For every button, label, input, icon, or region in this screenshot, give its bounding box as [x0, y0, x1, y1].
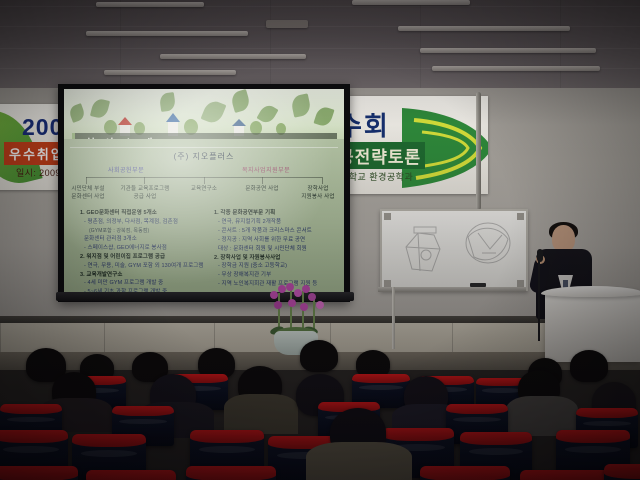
- org-chart-header-left: 사회공헌부문: [108, 165, 144, 174]
- slide-bullet: - 연극, 뮤지컬기획 2개작품: [214, 218, 338, 227]
- ceiling-light-fixture: [352, 0, 470, 5]
- slide-header-illustration: [64, 89, 344, 139]
- ceiling-light-fixture: [96, 2, 204, 7]
- presenter-head: [552, 225, 575, 252]
- slide-bullet: 2. 워지점 및 어린이집 프로그램 공급: [80, 253, 206, 262]
- slide-divider: [70, 147, 338, 148]
- slide-right-column: 1. 각종 문화공연부문 기획- 연극, 뮤지컬기획 2개작품- 콘서트 : 5…: [214, 209, 338, 289]
- ceiling-vent: [266, 20, 308, 28]
- seat: [0, 466, 78, 480]
- ceiling-light-fixture: [160, 54, 306, 59]
- org-chart-node: 장학사업 지원봉사 사업: [294, 185, 342, 202]
- whiteboard-sketch: [460, 219, 516, 271]
- slide-bullet: - 스페이스샵, GEO에너지로 봉사점: [80, 244, 206, 253]
- slide-bullet: 2. 장학사업 및 자원봉사사업: [214, 254, 338, 263]
- banner-right: 수회 공전략토론 대학교 환경공학과: [332, 96, 488, 194]
- ceiling-light-fixture: [104, 70, 236, 75]
- seat: [604, 464, 640, 480]
- seat: [86, 470, 176, 480]
- audience-head: [300, 340, 338, 372]
- slide-bullet: 3. 교육개발연구소: [80, 271, 206, 280]
- slide-bullet: - 평촌점, 의정부, 다사점, 목계점, 검촌점: [80, 218, 206, 227]
- ceiling-light-fixture: [432, 66, 600, 71]
- seat: [420, 466, 510, 480]
- audience-shoulders: [224, 394, 298, 434]
- whiteboard-marker: [470, 283, 486, 287]
- slide-bullet: - 장학금 지원 (중소 고등학교): [214, 262, 338, 271]
- ceiling-light-fixture: [86, 31, 248, 36]
- org-chart-node: 시민단체 부설 문화센터 사업: [66, 185, 110, 202]
- slide-bullet: 대상 : 문화센터 회원 및 시민단체 회원: [214, 245, 338, 254]
- slide-bullet: - 정지공 : 지역 사회를 위한 무료 공연: [214, 236, 338, 245]
- audience-head: [570, 350, 608, 382]
- slide-bullet: - 콘서트 : 5개 작품과 크리스마스 콘서트: [214, 227, 338, 236]
- seat: [520, 470, 612, 480]
- slide-body: (주) 지오플러스 사회공헌부문 복지사업지원부문 시민단체 부설 문화센터 사…: [64, 139, 344, 293]
- slide-bullet: - 4세 미만 GYM 프로그램 개발 중: [80, 279, 206, 288]
- slide-bullet: - 무상 장애복지관 기부: [214, 271, 338, 280]
- slide-bullet: (GYM포함 : 강북점, 목동점): [80, 227, 206, 235]
- audience-seating: [0, 330, 640, 480]
- ceiling-light-fixture: [420, 48, 596, 53]
- projection-screen: 회 사 소 개 (주) 지오플러스 사회공헌부문 복지사업지원부문 시민단체 부…: [64, 89, 344, 293]
- slide-bullet: 1. GEO문화센터 직접운영 5개소: [80, 209, 206, 218]
- org-chart-header-right: 복지사업지원부문: [242, 165, 290, 174]
- lecture-hall-photo: 200 우수취업 일시: 2009. 수회 공전략토론 대학교 환경공학과: [0, 0, 640, 480]
- microphone-cable: [538, 261, 540, 341]
- org-chart-node: 기관들 교육프로그램 공급 사업: [118, 185, 172, 202]
- projection-screen-frame: 회 사 소 개 (주) 지오플러스 사회공헌부문 복지사업지원부문 시민단체 부…: [58, 84, 350, 302]
- banner-pole: [476, 92, 481, 210]
- whiteboard-sketch: [400, 225, 454, 281]
- podium-top-surface: [541, 286, 640, 297]
- ceiling-panel-grid: [0, 0, 640, 92]
- slide-bullet: 1. 각종 문화공연부문 기획: [214, 209, 338, 218]
- org-chart-node: 문화공연 사업: [238, 185, 286, 193]
- slide-bullet: 문화센터 관리점 3개소: [80, 235, 206, 244]
- ceiling: [0, 0, 640, 92]
- org-chart-root: (주) 지오플러스: [64, 151, 344, 162]
- audience-shoulders: [306, 442, 412, 480]
- org-chart-node: 교육연구소: [182, 185, 226, 193]
- whiteboard-tray: [378, 287, 526, 292]
- slide-left-column: 1. GEO문화센터 직접운영 5개소- 평촌점, 의정부, 다사점, 목계점,…: [80, 209, 206, 293]
- seat: [186, 466, 276, 480]
- banner-left-date: 일시: 2009.: [16, 166, 64, 179]
- slide-bullet: - 연극, 무용, 미술, GYM 포함 외 130여개 프로그램: [80, 262, 206, 271]
- whiteboard: [380, 209, 528, 291]
- ceiling-light-fixture: [398, 26, 570, 31]
- banner-right-org: 대학교 환경공학과: [340, 170, 413, 183]
